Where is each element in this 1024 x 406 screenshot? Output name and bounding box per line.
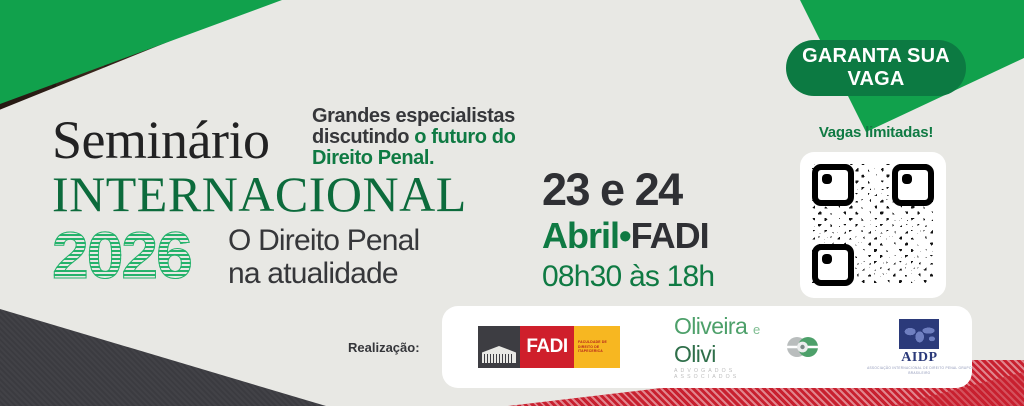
qr-finder-top-right bbox=[892, 164, 934, 206]
qr-code[interactable] bbox=[812, 164, 934, 286]
logo-fadi: FADI FACULDADE DE DIREITO DE ITAPECERICA bbox=[478, 326, 620, 368]
qr-finder-bottom-left bbox=[812, 244, 854, 286]
oo-word-2: Olivi bbox=[674, 341, 716, 367]
title-line-internacional: INTERNACIONAL bbox=[52, 168, 522, 220]
subtitle-line-1: O Direito Penal bbox=[228, 224, 528, 257]
sponsor-logo-bar: FADI FACULDADE DE DIREITO DE ITAPECERICA… bbox=[442, 306, 972, 388]
oo-text-block: Oliveira e Olivi ADVOGADOS ASSOCIADOS bbox=[674, 314, 776, 380]
aidp-world-map-icon bbox=[899, 319, 939, 349]
oo-wordmark: Oliveira e Olivi bbox=[674, 314, 776, 366]
event-banner: Seminário INTERNACIONAL 2026 Grandes esp… bbox=[0, 0, 1024, 406]
tagline: Grandes especialistas discutindo o futur… bbox=[312, 106, 562, 169]
limited-seats-note: Vagas limitadas! bbox=[786, 124, 966, 141]
subtitle-line-2: na atualidade bbox=[228, 257, 528, 290]
fadi-building-icon bbox=[478, 326, 520, 368]
realizacao-label: Realização: bbox=[348, 340, 420, 355]
subtitle: O Direito Penal na atualidade bbox=[228, 224, 528, 290]
qr-finder-top-left bbox=[812, 164, 854, 206]
aidp-subtext: ASSOCIAÇÃO INTERNACIONAL DE DIREITO PENA… bbox=[867, 366, 972, 375]
title-year-2026: 2026 bbox=[52, 222, 191, 288]
cta-button-garanta-sua-vaga[interactable]: GARANTA SUA VAGA bbox=[786, 40, 966, 96]
oo-ampersand: e bbox=[753, 322, 760, 337]
event-days: 23 e 24 bbox=[542, 166, 772, 214]
fadi-wordmark: FADI bbox=[520, 326, 574, 368]
event-venue: FADI bbox=[631, 215, 709, 256]
separator-dot: • bbox=[619, 215, 631, 256]
oo-subtext: ADVOGADOS ASSOCIADOS bbox=[674, 368, 776, 380]
event-month: Abril bbox=[542, 215, 619, 256]
qr-code-card[interactable] bbox=[800, 152, 946, 298]
fadi-subtext-block: FACULDADE DE DIREITO DE ITAPECERICA bbox=[574, 326, 620, 368]
event-details: 23 e 24 Abril•FADI 08h30 às 18h bbox=[542, 166, 772, 294]
oo-word-1: Oliveira bbox=[674, 313, 747, 339]
event-time: 08h30 às 18h bbox=[542, 260, 772, 294]
aidp-wordmark: AIDP bbox=[867, 350, 972, 365]
oo-globe-icon bbox=[785, 334, 819, 360]
fadi-subtext: FACULDADE DE DIREITO DE ITAPECERICA bbox=[578, 340, 620, 354]
logo-oliveira-e-olivi: Oliveira e Olivi ADVOGADOS ASSOCIADOS bbox=[674, 314, 819, 380]
event-month-venue: Abril•FADI bbox=[542, 216, 772, 256]
logo-aidp: AIDP ASSOCIAÇÃO INTERNACIONAL DE DIREITO… bbox=[867, 319, 972, 375]
